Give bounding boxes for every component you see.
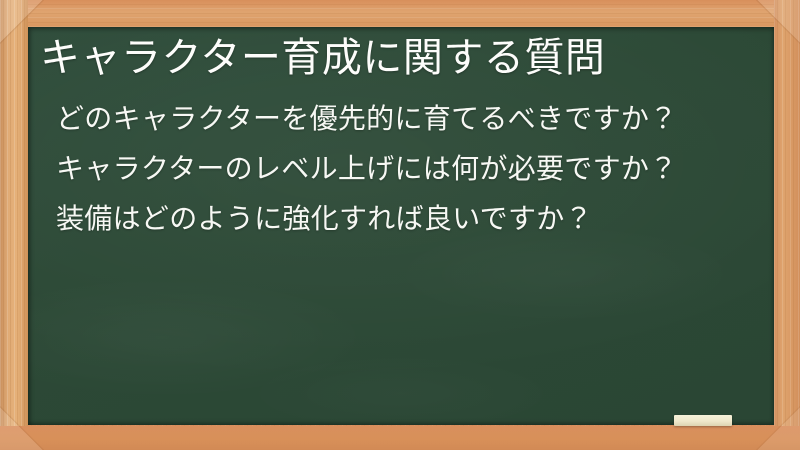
frame-rail-right [774, 0, 800, 450]
frame-rail-left [0, 0, 28, 450]
frame-rail-top [0, 0, 800, 27]
title-underline [40, 89, 752, 91]
question-item-3: 装備はどのように強化すれば良いですか？ [28, 205, 774, 233]
chalkboard-content: キャラクター育成に関する質問 どのキャラクターを優先的に育てるべきですか？ キャ… [28, 27, 774, 233]
chalkboard-surface: キャラクター育成に関する質問 どのキャラクターを優先的に育てるべきですか？ キャ… [28, 27, 774, 425]
chalk-stick [674, 415, 732, 426]
frame-ledge-bottom [0, 426, 800, 450]
question-list: どのキャラクターを優先的に育てるべきですか？ キャラクターのレベル上げには何が必… [28, 105, 774, 233]
board-title: キャラクター育成に関する質問 [28, 35, 774, 80]
chalkboard-frame: キャラクター育成に関する質問 どのキャラクターを優先的に育てるべきですか？ キャ… [0, 0, 800, 450]
question-item-1: どのキャラクターを優先的に育てるべきですか？ [28, 105, 774, 133]
question-item-2: キャラクターのレベル上げには何が必要ですか？ [28, 155, 774, 183]
